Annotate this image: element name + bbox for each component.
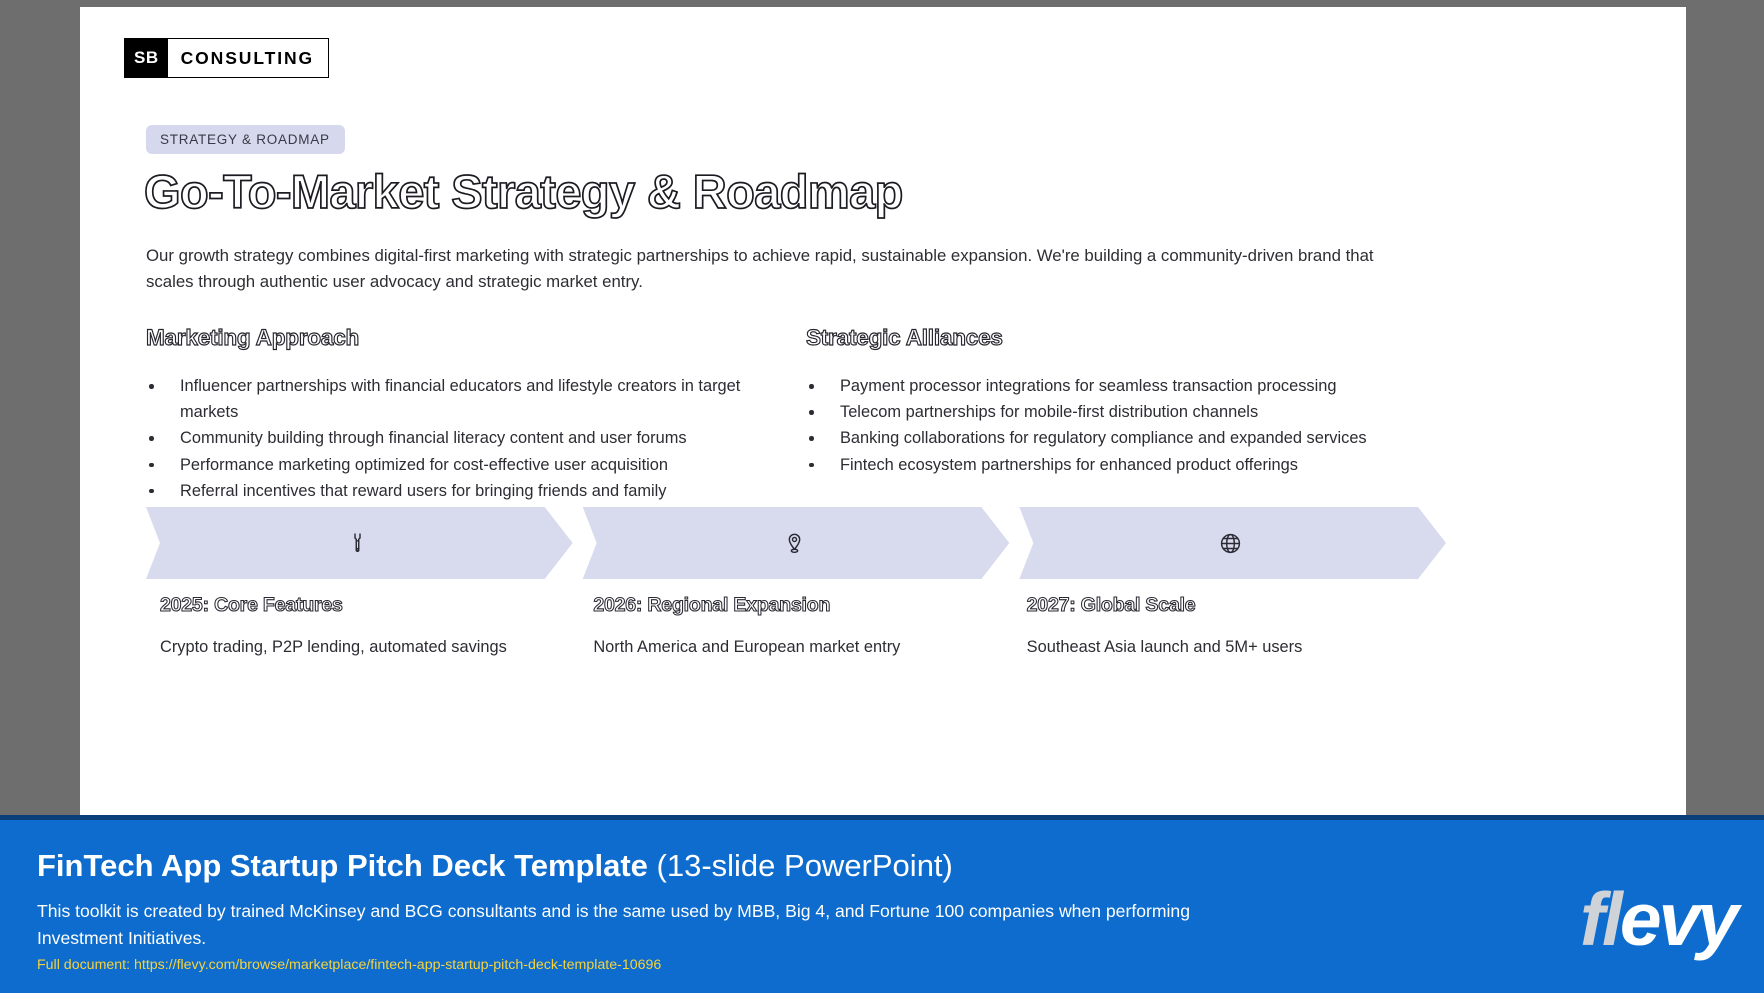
timeline-phase-3 [1019, 507, 1446, 579]
phase-caption-3: 2027: Global Scale Southeast Asia launch… [1013, 594, 1446, 657]
list-item: Performance marketing optimized for cost… [146, 452, 786, 478]
phase-caption-1: 2025: Core Features Crypto trading, P2P … [146, 594, 579, 657]
logo-mark: SB [125, 39, 168, 77]
flevy-watermark-prefix: fl [1580, 877, 1620, 961]
column-heading: Marketing Approach [146, 325, 786, 351]
roadmap-timeline [146, 507, 1446, 587]
timeline-phase-2 [583, 507, 1010, 579]
roadmap-captions: 2025: Core Features Crypto trading, P2P … [146, 594, 1446, 657]
list-item: Fintech ecosystem partnerships for enhan… [806, 452, 1466, 478]
flevy-watermark: flevy [1580, 882, 1736, 957]
column-strategic-alliances: Strategic Alliances Payment processor in… [806, 325, 1466, 478]
timeline-phase-1 [146, 507, 573, 579]
column-heading: Strategic Alliances [806, 325, 1466, 351]
promo-title-bold: FinTech App Startup Pitch Deck Template [37, 848, 648, 883]
phase-description: Southeast Asia launch and 5M+ users [1027, 638, 1422, 657]
section-eyebrow-badge: STRATEGY & ROADMAP [146, 125, 345, 154]
list-item: Influencer partnerships with financial e… [146, 373, 786, 425]
promo-title: FinTech App Startup Pitch Deck Template … [37, 848, 953, 884]
list-item: Payment processor integrations for seaml… [806, 373, 1466, 399]
slide-canvas: SB CONSULTING STRATEGY & ROADMAP Go-To-M… [80, 7, 1686, 819]
promo-footer: FinTech App Startup Pitch Deck Template … [0, 815, 1764, 993]
phase-title: 2027: Global Scale [1027, 594, 1422, 617]
bullet-list: Payment processor integrations for seaml… [806, 373, 1466, 478]
column-marketing-approach: Marketing Approach Influencer partnershi… [146, 325, 786, 504]
phase-title: 2026: Regional Expansion [593, 594, 988, 617]
list-item: Referral incentives that reward users fo… [146, 478, 786, 504]
intro-paragraph: Our growth strategy combines digital-fir… [146, 243, 1414, 295]
logo-wordmark: CONSULTING [168, 39, 328, 77]
phase-caption-2: 2026: Regional Expansion North America a… [579, 594, 1012, 657]
page-title: Go-To-Market Strategy & Roadmap [144, 164, 903, 219]
phase-description: North America and European market entry [593, 638, 988, 657]
list-item: Banking collaborations for regulatory co… [806, 425, 1466, 451]
globe-icon [1218, 530, 1244, 556]
promo-description: This toolkit is created by trained McKin… [37, 898, 1247, 952]
list-item: Telecom partnerships for mobile-first di… [806, 399, 1466, 425]
location-pin-icon [781, 530, 807, 556]
promo-title-rest: (13-slide PowerPoint) [648, 848, 953, 883]
list-item: Community building through financial lit… [146, 425, 786, 451]
brand-logo: SB CONSULTING [124, 38, 329, 78]
phase-description: Crypto trading, P2P lending, automated s… [160, 638, 555, 657]
full-document-link[interactable]: Full document: https://flevy.com/browse/… [37, 957, 661, 973]
bullet-list: Influencer partnerships with financial e… [146, 373, 786, 504]
phase-title: 2025: Core Features [160, 594, 555, 617]
wrench-icon [344, 530, 370, 556]
flevy-watermark-suffix: evy [1620, 877, 1736, 961]
